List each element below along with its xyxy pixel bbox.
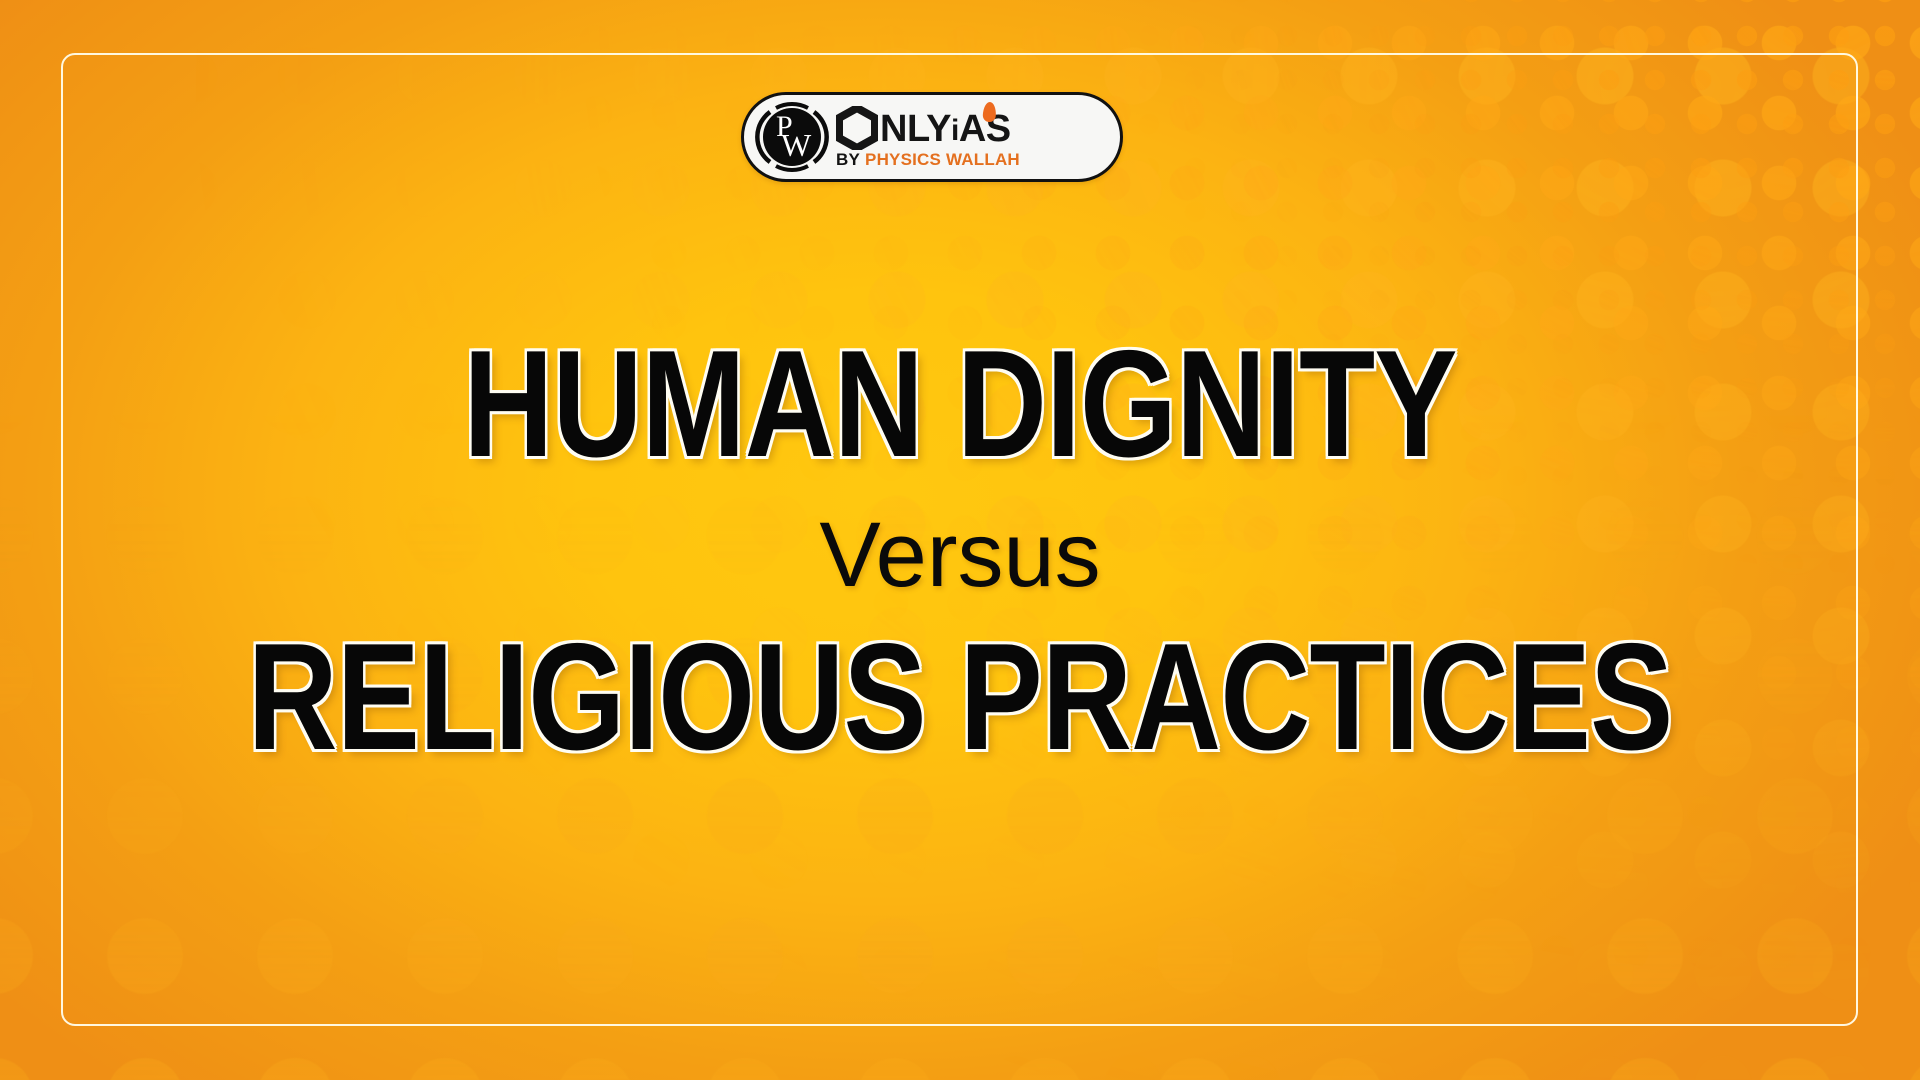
pw-circle-monogram-icon: P W <box>754 99 830 175</box>
flame-dot-icon <box>982 102 996 123</box>
pw-disc <box>763 108 821 166</box>
tagline-by: BY <box>836 151 860 168</box>
wordmark-prefix: NLY <box>880 108 951 150</box>
brand-wordmark: NLYiAS BY PHYSICS WALLAH <box>836 106 1020 168</box>
headline-block: HUMAN DIGNITY Versus RELIGIOUS PRACTICES <box>0 330 1920 772</box>
brand-logo[interactable]: P W NLYiAS BY PHYSICS WALLAH <box>741 92 1123 182</box>
wordmark-main-row: NLYiAS <box>836 106 1020 150</box>
headline-line-3: RELIGIOUS PRACTICES <box>173 623 1747 772</box>
headline-line-2-versus: Versus <box>0 509 1920 601</box>
hexagon-o-icon <box>836 106 878 150</box>
brand-tagline: BY PHYSICS WALLAH <box>836 151 1020 168</box>
poster-canvas: P W NLYiAS BY PHYSICS WALLAH HUMAN DIGNI… <box>0 0 1920 1080</box>
tagline-physics-wallah: PHYSICS WALLAH <box>865 151 1020 168</box>
headline-line-1: HUMAN DIGNITY <box>173 330 1747 479</box>
wordmark-i: i <box>951 114 959 147</box>
